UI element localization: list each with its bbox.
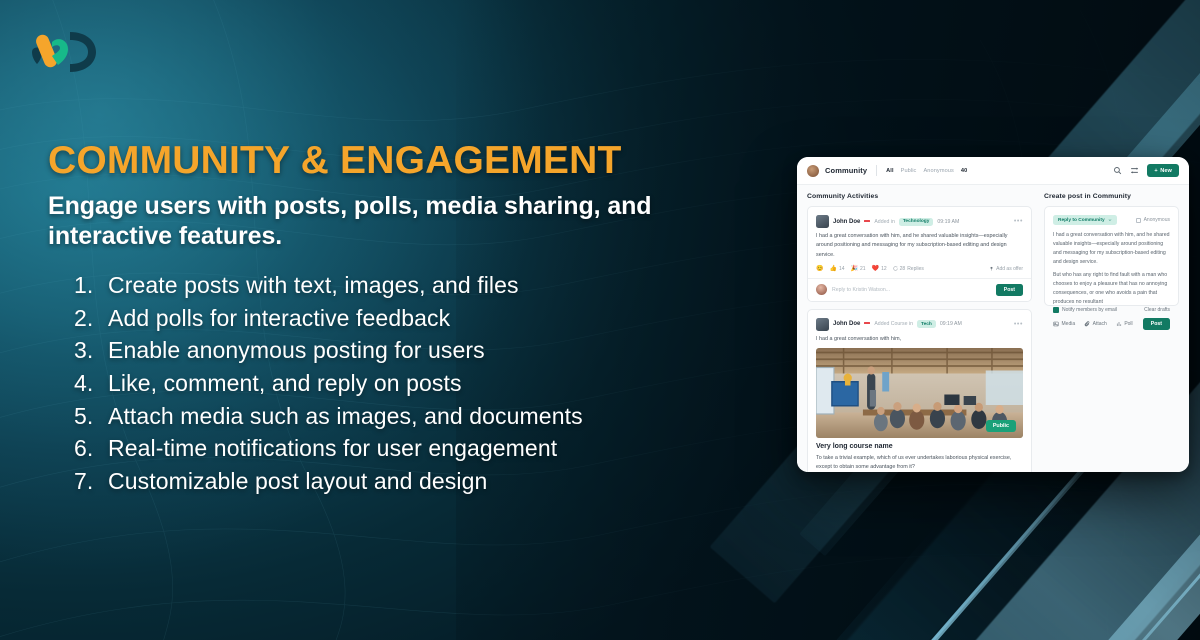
reaction-party[interactable]: 🎉21 bbox=[851, 266, 866, 272]
checkbox-checked-icon[interactable] bbox=[1053, 307, 1059, 313]
image-icon bbox=[1053, 321, 1059, 327]
page-subtitle: Engage users with posts, polls, media sh… bbox=[48, 191, 778, 251]
list-item: Customizable post layout and design bbox=[74, 465, 778, 498]
post-time: 09:19 AM bbox=[940, 321, 962, 327]
anonymous-toggle[interactable]: Anonymous bbox=[1136, 217, 1170, 223]
replies-label: Replies bbox=[907, 266, 924, 272]
post-body: I had a great conversation with him, bbox=[816, 335, 1023, 344]
nav-tab-anonymous[interactable]: Anonymous bbox=[923, 168, 953, 174]
filter-icon[interactable] bbox=[1130, 166, 1139, 175]
post-card[interactable]: John Doe Added Course in Tech 09:19 AM •… bbox=[807, 309, 1032, 472]
reaction-heart[interactable]: ❤️12 bbox=[872, 266, 887, 272]
list-item: Attach media such as images, and documen… bbox=[74, 400, 778, 433]
list-item: Enable anonymous posting for users bbox=[74, 334, 778, 367]
post-image: Public bbox=[816, 348, 1023, 438]
audience-select-label: Reply to Community bbox=[1058, 218, 1105, 223]
post-author: John Doe bbox=[833, 219, 860, 225]
post-paragraph: To take a trivial example, which of us e… bbox=[816, 454, 1023, 472]
course-title: Very long course name bbox=[816, 443, 1023, 450]
search-icon[interactable] bbox=[1113, 166, 1122, 175]
nav-tab-all[interactable]: All bbox=[886, 168, 893, 174]
new-button-label: New bbox=[1160, 168, 1172, 174]
notify-members-row[interactable]: Notify members by email Clear drafts bbox=[1053, 307, 1170, 313]
nd-logo-icon bbox=[18, 22, 104, 78]
reaction-thumbsup[interactable]: 👍14 bbox=[829, 266, 844, 272]
avatar bbox=[816, 318, 829, 331]
post-category-badge: Technology bbox=[899, 218, 934, 226]
divider bbox=[876, 165, 877, 176]
post-category-badge: Tech bbox=[917, 320, 936, 328]
activities-heading: Community Activities bbox=[807, 193, 1032, 200]
composer-heading: Create post in Community bbox=[1044, 193, 1179, 200]
replies-count: 28 bbox=[900, 266, 906, 272]
mockup-header: Community All Public Anonymous 40 + New bbox=[797, 157, 1189, 185]
avatar bbox=[807, 165, 819, 177]
attach-label: Attach bbox=[1093, 321, 1107, 327]
poll-icon bbox=[1116, 321, 1122, 327]
new-post-button[interactable]: + New bbox=[1147, 164, 1179, 177]
clear-drafts-link[interactable]: Clear drafts bbox=[1144, 307, 1170, 313]
anonymous-label: Anonymous bbox=[1144, 217, 1170, 223]
feature-list: Create posts with text, images, and file… bbox=[48, 269, 778, 498]
post-body: I had a great conversation with him, and… bbox=[816, 232, 1023, 260]
list-item: Create posts with text, images, and file… bbox=[74, 269, 778, 302]
poll-label: Poll bbox=[1124, 321, 1132, 327]
create-post-column: Create post in Community Reply to Commun… bbox=[1040, 185, 1189, 472]
image-visibility-badge: Public bbox=[986, 420, 1016, 432]
nav-tab-public[interactable]: Public bbox=[901, 168, 917, 174]
more-options-icon[interactable]: ••• bbox=[1014, 218, 1023, 225]
post-author: John Doe bbox=[833, 321, 860, 327]
chevron-down-icon bbox=[1108, 218, 1112, 222]
mockup-nav: All Public Anonymous 40 bbox=[886, 168, 967, 174]
more-options-icon[interactable]: ••• bbox=[1014, 321, 1023, 328]
composer-post-button[interactable]: Post bbox=[1143, 318, 1170, 330]
plus-icon: + bbox=[1154, 168, 1157, 174]
nav-count-badge: 40 bbox=[961, 168, 967, 174]
post-composer[interactable]: Reply to Community Anonymous I had a gre… bbox=[1044, 206, 1179, 306]
list-item: Real-time notifications for user engagem… bbox=[74, 432, 778, 465]
share-label: Add as offer bbox=[996, 266, 1023, 272]
paperclip-icon bbox=[1084, 321, 1090, 327]
community-brand-label: Community bbox=[825, 166, 867, 175]
app-mockup: Community All Public Anonymous 40 + New bbox=[797, 157, 1189, 472]
reply-post-button[interactable]: Post bbox=[996, 284, 1023, 296]
media-label: Media bbox=[1062, 321, 1076, 327]
notify-label: Notify members by email bbox=[1062, 307, 1117, 313]
reply-input[interactable]: Reply to Kristin Watson... bbox=[832, 287, 991, 293]
reaction-add-button[interactable]: 😊 bbox=[816, 266, 823, 272]
reaction-bar: 😊 👍14 🎉21 ❤️12 28 Replies Add as offer bbox=[816, 266, 1023, 272]
post-meta: Added in bbox=[874, 219, 894, 225]
media-tool-button[interactable]: Media bbox=[1053, 321, 1075, 327]
audience-select[interactable]: Reply to Community bbox=[1053, 215, 1117, 225]
attach-tool-button[interactable]: Attach bbox=[1084, 321, 1107, 327]
poll-tool-button[interactable]: Poll bbox=[1116, 321, 1133, 327]
list-item: Like, comment, and reply on posts bbox=[74, 367, 778, 400]
checkbox-icon bbox=[1136, 218, 1141, 223]
add-as-offer-button[interactable]: Add as offer bbox=[989, 266, 1023, 272]
community-activities-column: Community Activities John Doe Added in T… bbox=[797, 185, 1040, 472]
page-title: COMMUNITY & ENGAGEMENT bbox=[48, 140, 778, 182]
flag-icon bbox=[864, 220, 870, 224]
avatar bbox=[816, 215, 829, 228]
flag-icon bbox=[864, 322, 870, 326]
post-meta: Added Course in bbox=[874, 321, 913, 327]
composer-text[interactable]: I had a great conversation with him, and… bbox=[1053, 231, 1170, 266]
post-time: 09:19 AM bbox=[937, 219, 959, 225]
content-column: COMMUNITY & ENGAGEMENT Engage users with… bbox=[48, 140, 778, 498]
avatar bbox=[816, 284, 827, 295]
post-card[interactable]: John Doe Added in Technology 09:19 AM ••… bbox=[807, 206, 1032, 302]
list-item: Add polls for interactive feedback bbox=[74, 302, 778, 335]
composer-text[interactable]: But who has any right to find fault with… bbox=[1053, 271, 1170, 306]
replies-link[interactable]: 28 Replies bbox=[893, 266, 924, 272]
reply-row[interactable]: Reply to Kristin Watson... Post bbox=[808, 278, 1031, 301]
